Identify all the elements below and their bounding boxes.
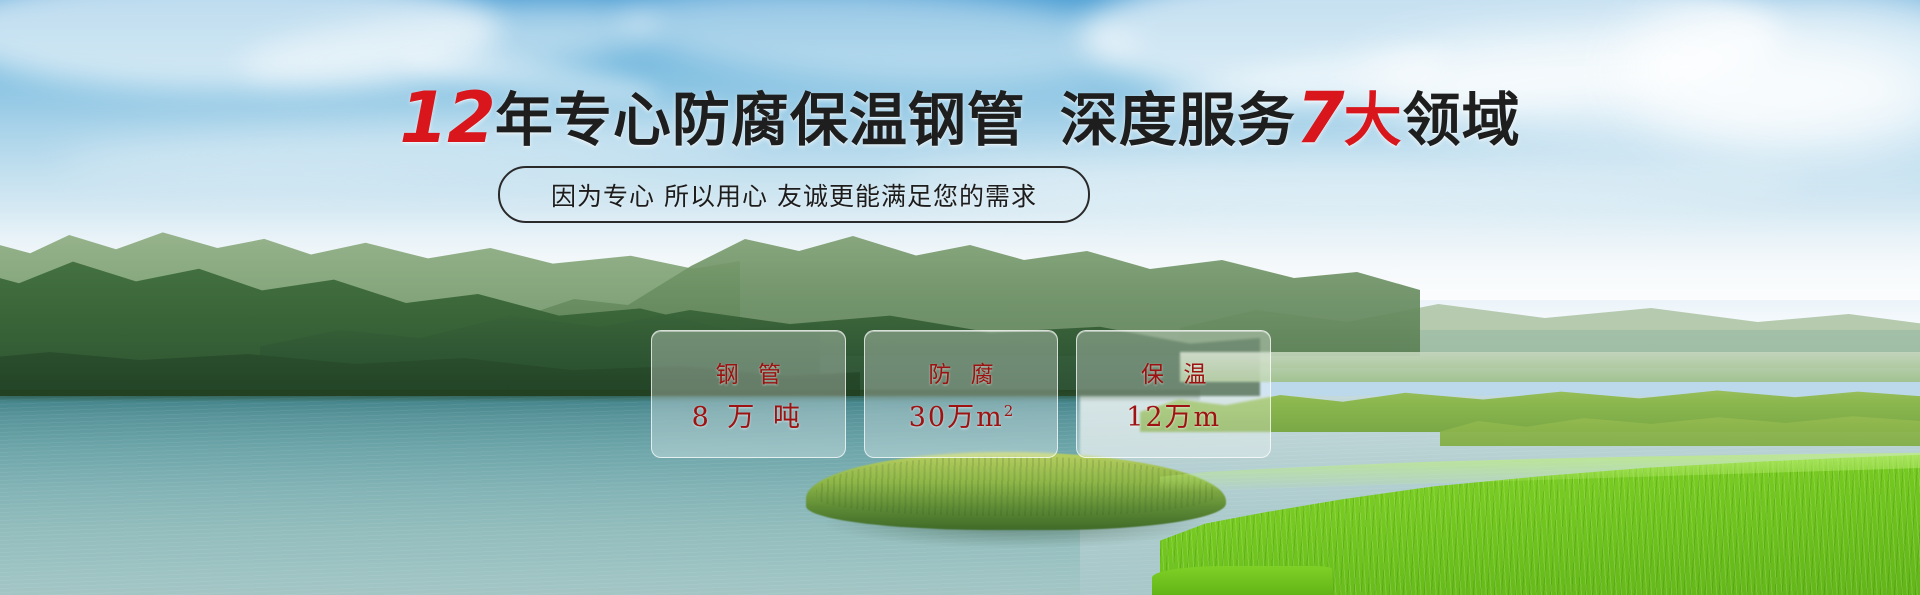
headline-years-number: 12 bbox=[399, 77, 494, 159]
stat-value-text: 8 万 吨 bbox=[692, 402, 805, 433]
stat-value-text: 12万m bbox=[1126, 402, 1221, 433]
headline-segment-two: 深度服务 bbox=[1060, 86, 1296, 154]
stat-card-anticorrosion[interactable]: 防 腐 30万m2 bbox=[864, 330, 1059, 458]
wetland-far-bank bbox=[1180, 352, 1920, 382]
stat-card-insulation[interactable]: 保 温 12万m bbox=[1076, 330, 1271, 458]
headline-segment-one: 年专心防腐保温钢管 bbox=[495, 86, 1026, 154]
stat-value-text: 30万m bbox=[909, 402, 1004, 433]
stat-value: 8 万 吨 bbox=[692, 395, 805, 434]
stat-label: 钢 管 bbox=[710, 355, 787, 389]
stat-label: 保 温 bbox=[1135, 355, 1212, 389]
stat-card-group: 钢 管 8 万 吨 防 腐 30万m2 保 温 12万m bbox=[651, 330, 1271, 458]
grass-bottom-left-patch bbox=[1152, 566, 1332, 595]
headline-fields-number: 7 bbox=[1296, 77, 1344, 159]
hero-banner: 12年专心防腐保温钢管深度服务7大领域 因为专心 所以用心 友诚更能满足您的需求… bbox=[0, 0, 1920, 595]
headline-segment-four: 领域 bbox=[1403, 86, 1521, 154]
subtitle-text: 因为专心 所以用心 友诚更能满足您的需求 bbox=[551, 177, 1037, 213]
stat-card-steel-pipe[interactable]: 钢 管 8 万 吨 bbox=[651, 330, 846, 458]
banner-headline: 12年专心防腐保温钢管深度服务7大领域 bbox=[0, 86, 1920, 152]
horizon-haze bbox=[0, 210, 1920, 330]
stat-value-exponent: 2 bbox=[1004, 402, 1014, 420]
subtitle-pill: 因为专心 所以用心 友诚更能满足您的需求 bbox=[498, 166, 1090, 223]
stat-value: 12万m bbox=[1126, 395, 1221, 434]
stat-label: 防 腐 bbox=[922, 355, 999, 389]
stat-value: 30万m2 bbox=[909, 395, 1014, 434]
headline-segment-three: 大 bbox=[1344, 86, 1403, 154]
